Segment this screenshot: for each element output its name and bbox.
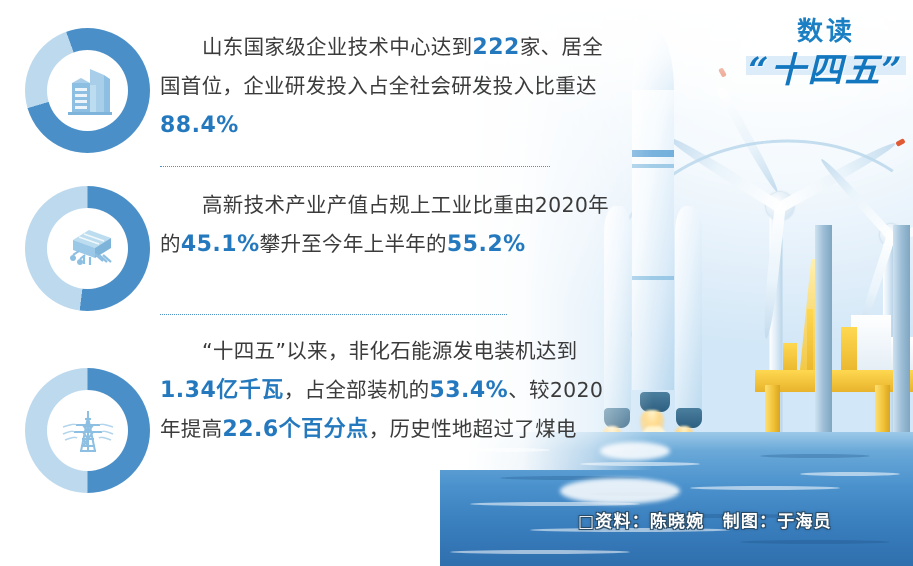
body-text: ，历史性地超过了煤电 — [369, 417, 577, 441]
credit-line: □资料：陈晓婉 制图：于海员 — [578, 507, 832, 532]
highlight-value: 1.34亿千瓦 — [160, 378, 284, 403]
stat-row-1: 山东国家级企业技术中心达到222家、居全国首位，企业研发投入占全社会研发投入比重… — [0, 28, 640, 158]
content-column: 山东国家级企业技术中心达到222家、居全国首位，企业研发投入占全社会研发投入比重… — [0, 0, 640, 566]
highlight-value: 45.1% — [181, 232, 260, 257]
stat-icon-2 — [25, 186, 150, 311]
microchip-icon — [47, 208, 128, 289]
stat-icon-1 — [25, 28, 150, 153]
rocket-booster-right — [675, 206, 702, 416]
power-pylon-icon — [47, 390, 128, 471]
section-divider-1 — [160, 166, 550, 167]
blade-tip-marker — [895, 138, 905, 147]
body-text: “十四五”以来，非化石能源发电装机达到 — [202, 339, 577, 363]
stat-row-2: 高新技术产业产值占规上工业比重由2020年的45.1%攀升至今年上半年的55.2… — [0, 186, 640, 308]
headline-title: 数读 “十四五” — [742, 16, 910, 108]
section-divider-2 — [160, 314, 507, 315]
stat-text-2: 高新技术产业产值占规上工业比重由2020年的45.1%攀升至今年上半年的55.2… — [160, 186, 615, 264]
stat-row-3: “十四五”以来，非化石能源发电装机达到1.34亿千瓦，占全部装机的53.4%、较… — [0, 332, 640, 517]
highlight-value: 22.6个百分点 — [222, 417, 368, 442]
body-text: 攀升至今年上半年的 — [260, 232, 447, 256]
title-line-14th-five-year-plan: “十四五” — [742, 50, 910, 92]
body-text: ，占全部装机的 — [284, 378, 430, 402]
highlight-value: 88.4% — [160, 113, 239, 138]
buildings-icon — [47, 50, 128, 131]
highlight-value: 55.2% — [447, 232, 526, 257]
highlight-value: 222 — [472, 35, 519, 60]
highlight-value: 53.4% — [429, 378, 508, 403]
body-text: 山东国家级企业技术中心达到 — [202, 35, 472, 59]
stat-text-3: “十四五”以来，非化石能源发电装机达到1.34亿千瓦，占全部装机的53.4%、较… — [160, 332, 615, 449]
infographic-page: 数读 “十四五” — [0, 0, 913, 566]
stat-icon-3 — [25, 368, 150, 493]
title-line-shudu: 数读 — [742, 16, 910, 48]
stat-text-1: 山东国家级企业技术中心达到222家、居全国首位，企业研发投入占全社会研发投入比重… — [160, 28, 615, 145]
